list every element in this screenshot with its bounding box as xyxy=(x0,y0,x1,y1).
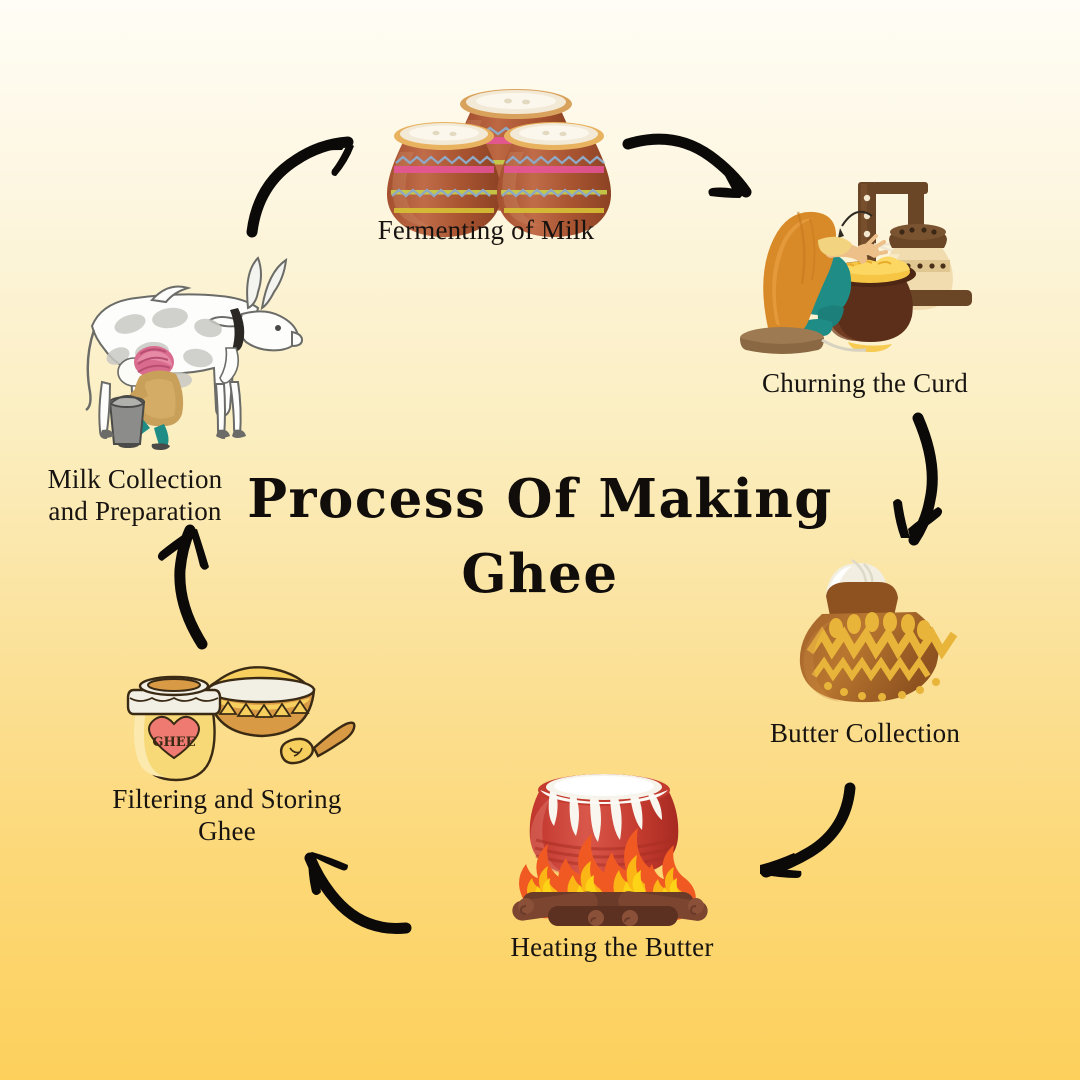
jar-label-text: GHEE xyxy=(152,735,195,750)
step-label-churning-the-curd: Churning the Curd xyxy=(725,368,1005,400)
clay-pots-icon xyxy=(378,42,614,214)
title-line-1: Process Of Making xyxy=(230,462,850,537)
step-label-filtering-and-storing-ghee: Filtering and Storing Ghee xyxy=(92,784,362,848)
arrow-churning-to-butter xyxy=(886,412,986,548)
butter-pot-icon xyxy=(792,540,978,704)
step-label-butter-collection: Butter Collection xyxy=(720,718,1010,750)
step-label-fermenting-of-milk: Fermenting of Milk xyxy=(336,215,636,247)
cow-milking-icon xyxy=(66,252,306,448)
ghee-jar-bowl-spoon-icon: GHEE xyxy=(122,636,352,794)
step-label-milk-collection-and-preparation: Milk Collection and Preparation xyxy=(10,464,260,528)
pot-on-fire-icon xyxy=(498,756,730,926)
woman-churning-curd-icon xyxy=(722,182,974,354)
arrow-fermenting-to-churning xyxy=(622,122,758,210)
page-title: Process Of Making Ghee xyxy=(230,462,850,613)
title-line-2: Ghee xyxy=(230,537,850,612)
arrow-milk-to-fermenting xyxy=(244,128,364,238)
step-label-heating-the-butter: Heating the Butter xyxy=(472,932,752,964)
arrow-butter-to-heating xyxy=(750,788,860,888)
arrow-filtering-to-milk xyxy=(136,524,236,650)
arrow-heating-to-filtering xyxy=(296,842,412,938)
infographic-canvas: Process Of Making Ghee xyxy=(0,0,1080,1080)
